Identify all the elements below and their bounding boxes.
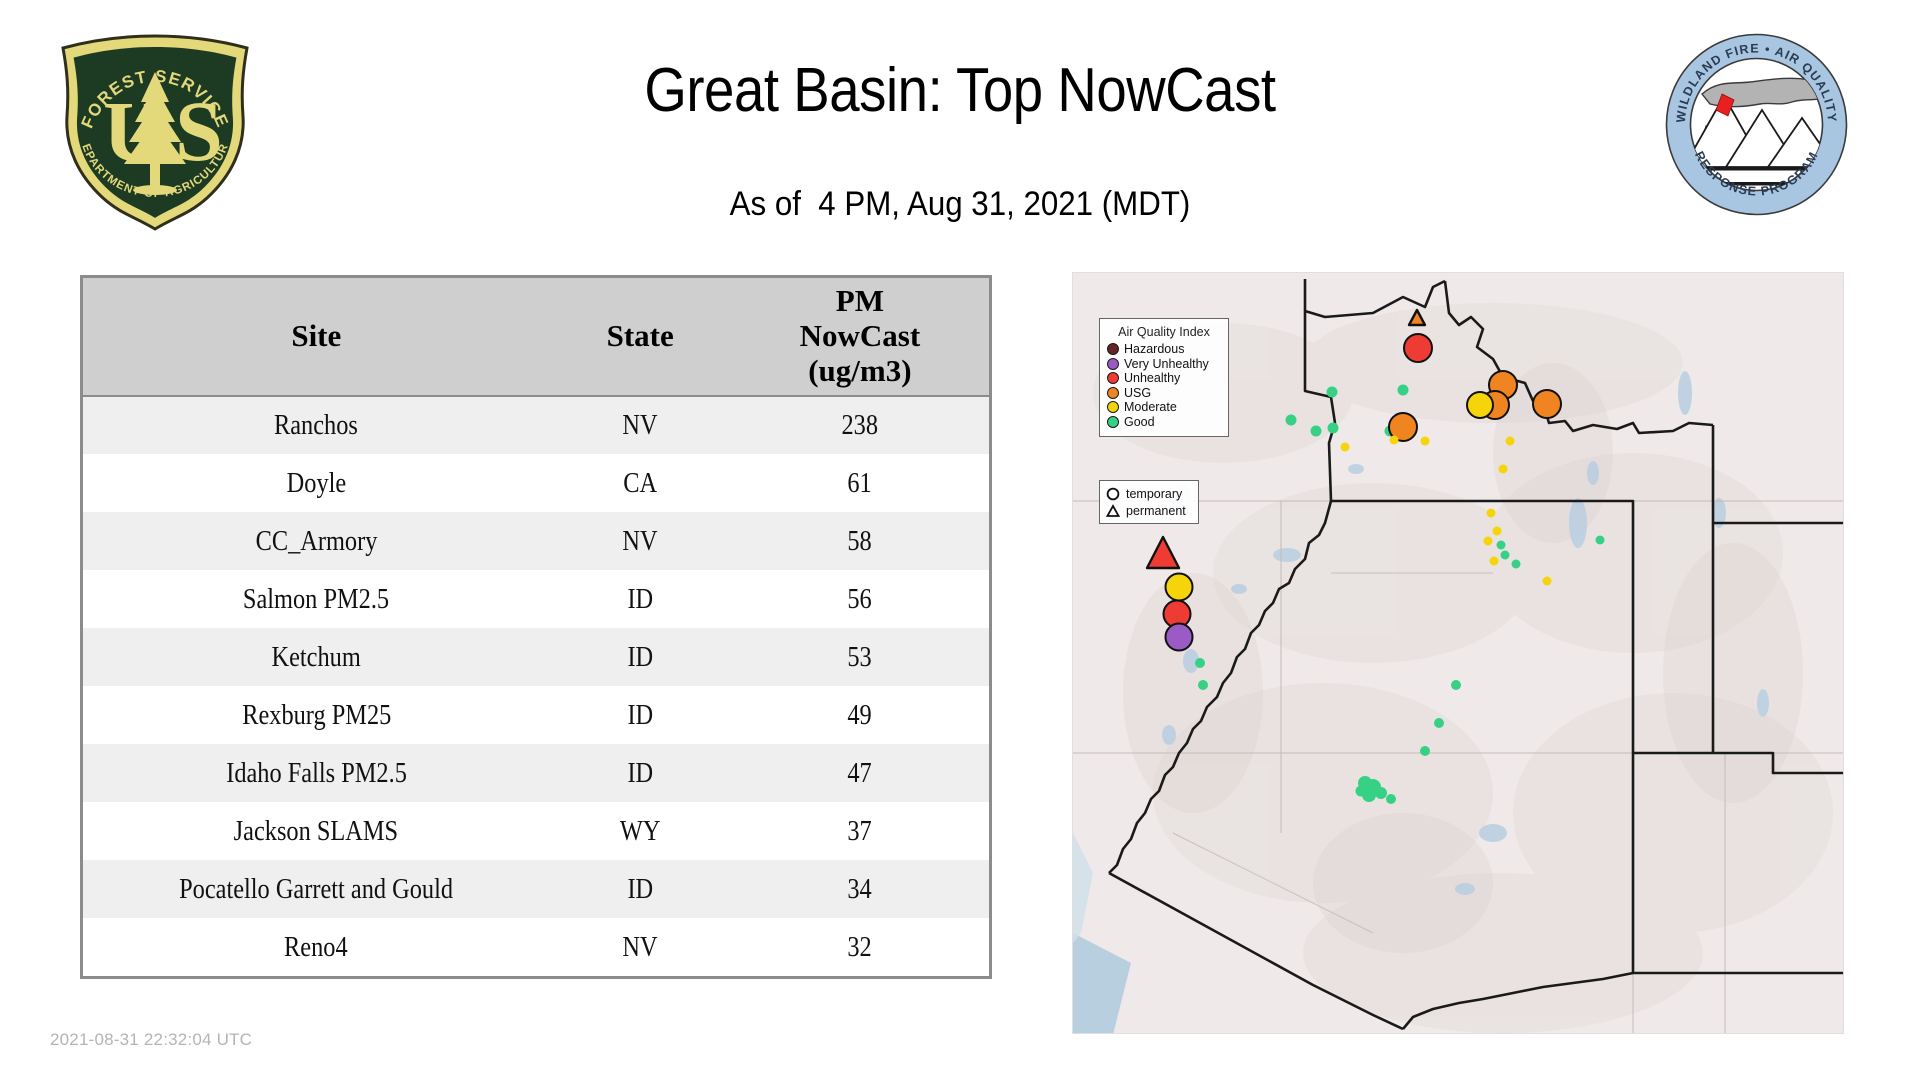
site-type-legend: temporary permanent [1099,480,1199,524]
site-cell: Idaho Falls PM2.5 [83,744,550,802]
table-row: Jackson SLAMSWY37 [83,802,989,860]
map-marker-small[interactable] [1497,541,1506,550]
slide-root: U S FOREST SERVICE DEPARTMENT OF AGRICUL… [0,0,1920,1080]
great-basin-map[interactable]: Air Quality Index HazardousVery Unhealth… [1072,272,1844,1034]
pm-nowcast-cell: 53 [731,628,989,686]
map-marker-permanent[interactable] [1144,534,1182,572]
map-marker-small[interactable] [1451,680,1461,690]
pm-nowcast-cell: 49 [731,686,989,744]
map-marker-small[interactable] [1421,437,1430,446]
aqi-legend-row: Moderate [1107,400,1221,415]
table-row: RanchosNV238 [83,396,989,454]
map-marker-small[interactable] [1506,437,1515,446]
state-cell: NV [550,396,731,454]
column-header-pm-nowcast: PM NowCast (ug/m3) [731,278,989,396]
state-cell: CA [550,454,731,512]
aqi-legend-title: Air Quality Index [1107,325,1221,339]
map-marker-temporary[interactable] [1532,389,1562,419]
table-row: CC_ArmoryNV58 [83,512,989,570]
table-header-row: Site State PM NowCast (ug/m3) [83,278,989,396]
legend-label-permanent: permanent [1126,504,1186,518]
map-marker-permanent[interactable] [1406,307,1428,329]
aqi-legend-items: HazardousVery UnhealthyUnhealthyUSGModer… [1107,342,1221,429]
table-row: Rexburg PM25ID49 [83,686,989,744]
aqi-legend-row: Hazardous [1107,342,1221,357]
aqi-legend-label: Unhealthy [1124,372,1180,385]
map-marker-temporary[interactable] [1466,391,1494,419]
aqi-color-swatch-icon [1107,358,1119,370]
state-cell: ID [550,744,731,802]
map-marker-small[interactable] [1490,557,1499,566]
map-marker-small[interactable] [1543,577,1552,586]
aqi-legend-row: Very Unhealthy [1107,357,1221,372]
pm-nowcast-cell: 32 [731,918,989,976]
site-cell: Ketchum [83,628,550,686]
state-cell: ID [550,570,731,628]
aqi-legend-label: Good [1124,416,1155,429]
map-marker-small[interactable] [1195,658,1205,668]
page-subtitle: As of 4 PM, Aug 31, 2021 (MDT) [77,185,1843,224]
aqi-legend-label: USG [1124,387,1151,400]
site-cell: CC_Armory [83,512,550,570]
state-cell: ID [550,860,731,918]
column-header-state: State [550,278,731,396]
legend-item-permanent: permanent [1106,502,1192,519]
pm-nowcast-cell: 58 [731,512,989,570]
map-marker-small[interactable] [1398,385,1409,396]
site-cell: Doyle [83,454,550,512]
pm-nowcast-cell: 47 [731,744,989,802]
map-marker-small[interactable] [1420,746,1430,756]
state-cell: NV [550,918,731,976]
pm-nowcast-cell: 56 [731,570,989,628]
aqi-legend-row: USG [1107,386,1221,401]
aqi-legend-row: Unhealthy [1107,371,1221,386]
map-marker-small[interactable] [1386,794,1396,804]
map-marker-temporary[interactable] [1165,573,1194,602]
table-row: Reno4NV32 [83,918,989,976]
aqi-legend-row: Good [1107,415,1221,430]
aqi-legend-label: Very Unhealthy [1124,358,1209,371]
site-cell: Pocatello Garrett and Gould [83,860,550,918]
map-marker-temporary[interactable] [1403,333,1433,363]
map-marker-temporary[interactable] [1165,623,1194,652]
site-cell: Rexburg PM25 [83,686,550,744]
pm-nowcast-cell: 238 [731,396,989,454]
legend-item-temporary: temporary [1106,485,1192,502]
map-marker-small[interactable] [1328,423,1339,434]
map-marker-small[interactable] [1493,527,1502,536]
table-row: Salmon PM2.5ID56 [83,570,989,628]
triangle-icon [1106,504,1122,518]
map-marker-small[interactable] [1311,426,1322,437]
map-marker-small[interactable] [1487,509,1496,518]
aqi-legend: Air Quality Index HazardousVery Unhealth… [1099,318,1229,437]
map-marker-small[interactable] [1499,465,1508,474]
page-title: Great Basin: Top NowCast [115,55,1805,126]
map-marker-small[interactable] [1501,551,1510,560]
map-marker-small[interactable] [1286,415,1297,426]
map-marker-small[interactable] [1434,718,1444,728]
footer-timestamp: 2021-08-31 22:32:04 UTC [50,1030,252,1050]
map-marker-small[interactable] [1484,537,1493,546]
top-nowcast-table: Site State PM NowCast (ug/m3) RanchosNV2… [80,275,992,979]
site-cell: Salmon PM2.5 [83,570,550,628]
circle-icon [1106,487,1122,501]
aqi-color-swatch-icon [1107,372,1119,384]
aqi-color-swatch-icon [1107,416,1119,428]
map-marker-small[interactable] [1341,443,1350,452]
map-marker-small[interactable] [1198,680,1208,690]
aqi-color-swatch-icon [1107,387,1119,399]
pm-nowcast-cell: 34 [731,860,989,918]
table-row: Pocatello Garrett and GouldID34 [83,860,989,918]
aqi-legend-label: Moderate [1124,401,1177,414]
map-marker-small[interactable] [1596,536,1605,545]
site-cell: Reno4 [83,918,550,976]
table-row: Idaho Falls PM2.5ID47 [83,744,989,802]
map-marker-small[interactable] [1327,387,1338,398]
table-row: DoyleCA61 [83,454,989,512]
map-marker-small[interactable] [1356,786,1367,797]
aqi-color-swatch-icon [1107,401,1119,413]
legend-label-temporary: temporary [1126,487,1182,501]
pm-nowcast-cell: 37 [731,802,989,860]
table-body: RanchosNV238DoyleCA61CC_ArmoryNV58Salmon… [83,396,989,976]
table-row: KetchumID53 [83,628,989,686]
site-cell: Jackson SLAMS [83,802,550,860]
aqi-color-swatch-icon [1107,343,1119,355]
column-header-site: Site [83,278,550,396]
state-cell: NV [550,512,731,570]
aqi-legend-label: Hazardous [1124,343,1184,356]
map-marker-small[interactable] [1512,560,1521,569]
state-cell: WY [550,802,731,860]
map-marker-small[interactable] [1390,436,1399,445]
state-cell: ID [550,686,731,744]
pm-nowcast-cell: 61 [731,454,989,512]
state-cell: ID [550,628,731,686]
site-cell: Ranchos [83,396,550,454]
